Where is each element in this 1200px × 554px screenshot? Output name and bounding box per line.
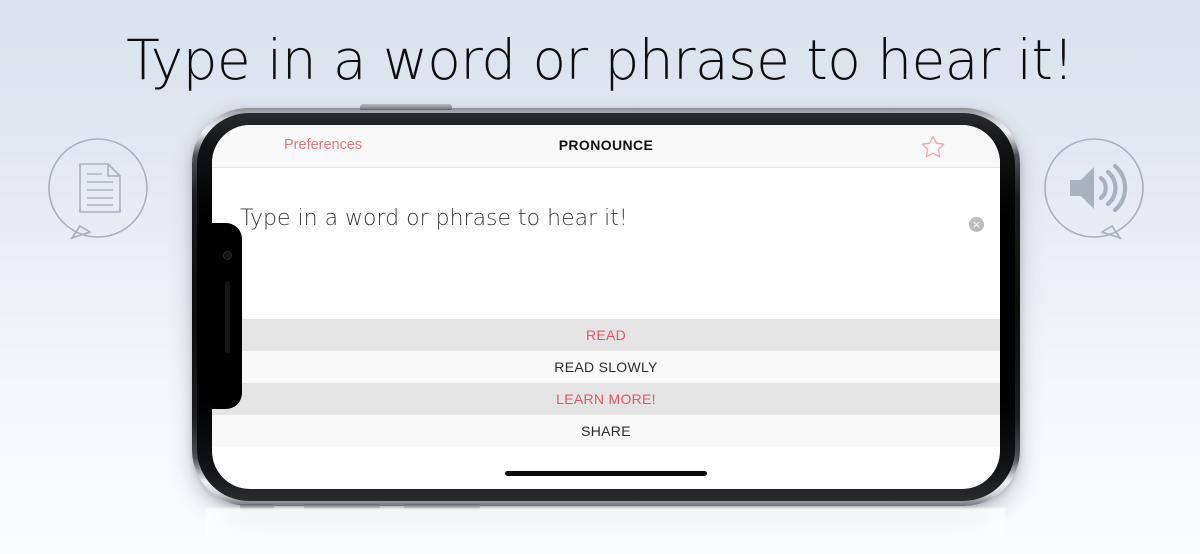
phone-notch — [212, 223, 242, 409]
volume-down-button[interactable] — [404, 504, 480, 510]
action-row-read-slowly[interactable]: READ SLOWLY — [212, 351, 1000, 383]
action-row-read[interactable]: READ — [212, 319, 1000, 351]
mute-switch[interactable] — [240, 504, 274, 510]
screenshot-stage: Type in a word or phrase to hear it! — [0, 0, 1200, 554]
document-icon — [44, 134, 152, 242]
speaker-volume-icon — [1040, 134, 1148, 242]
action-row-share[interactable]: SHARE — [212, 415, 1000, 447]
clear-text-button[interactable]: × — [969, 217, 984, 232]
speaker-bubble-decoration — [1040, 134, 1148, 242]
phone-screen: Preferences PRONOUNCE Type in a word or … — [212, 125, 1000, 489]
page-title: Type in a word or phrase to hear it! — [0, 27, 1200, 93]
action-row-learn-more[interactable]: LEARN MORE! — [212, 383, 1000, 415]
star-outline-icon — [920, 134, 946, 160]
favorite-button[interactable] — [920, 134, 946, 160]
power-button[interactable] — [360, 104, 452, 110]
front-camera-icon — [223, 251, 232, 260]
volume-up-button[interactable] — [304, 504, 380, 510]
app-title: PRONOUNCE — [212, 137, 1000, 153]
earpiece-speaker — [225, 281, 230, 353]
phone-reflection — [205, 508, 1005, 554]
app-navigation-bar: Preferences PRONOUNCE — [212, 125, 1000, 168]
action-list: READ READ SLOWLY LEARN MORE! SHARE — [212, 319, 1000, 447]
document-bubble-decoration — [44, 134, 152, 242]
text-entry-area[interactable]: Type in a word or phrase to hear it! × — [212, 168, 1000, 319]
phone-mockup: Preferences PRONOUNCE Type in a word or … — [192, 108, 1020, 506]
home-indicator[interactable] — [505, 471, 707, 476]
phrase-input-text[interactable]: Type in a word or phrase to hear it! — [240, 206, 628, 231]
